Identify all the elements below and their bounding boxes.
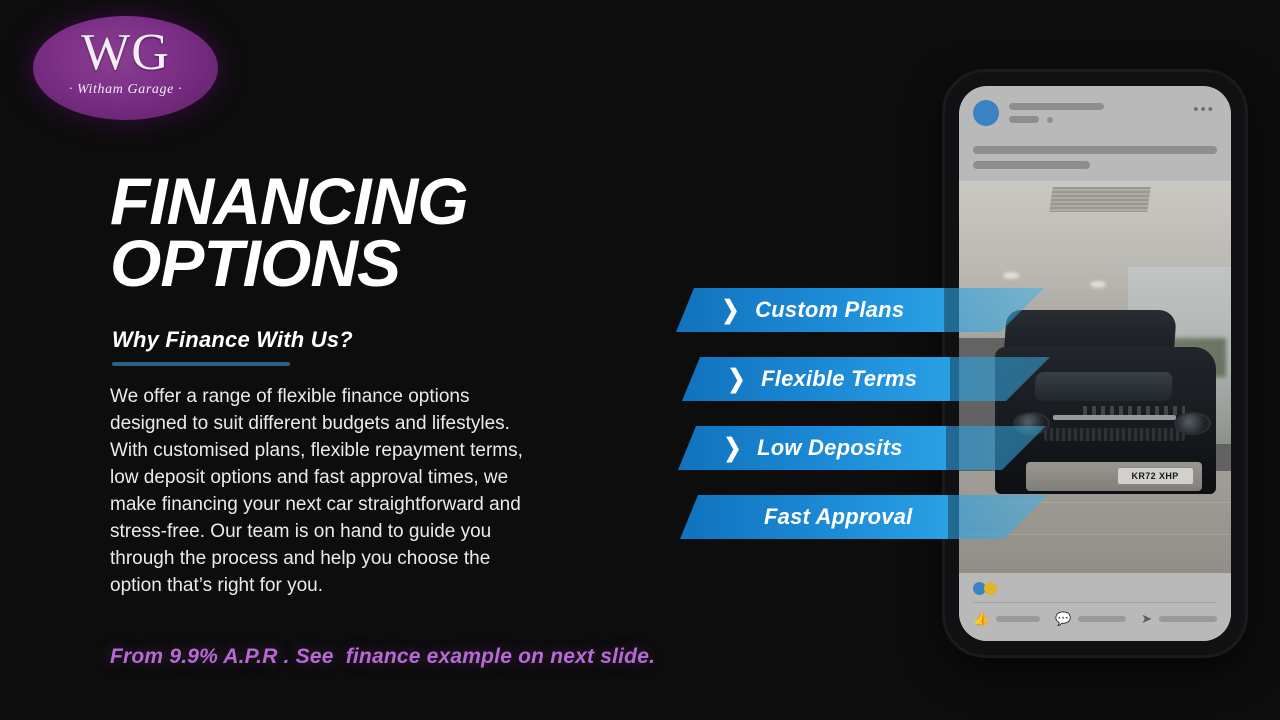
volume-up-button[interactable] <box>942 182 945 216</box>
phone-mockup: ••• <box>945 72 1245 655</box>
share-action[interactable]: ➤ <box>1141 612 1217 625</box>
share-label-placeholder <box>1159 616 1217 622</box>
page-title: FINANCING OPTIONS <box>110 170 630 294</box>
banner-label: Custom Plans <box>755 297 904 323</box>
chevron-right-icon: ❯ <box>724 437 742 459</box>
like-action[interactable]: 👍 <box>973 612 1040 625</box>
comment-label-placeholder <box>1078 616 1126 622</box>
phone-screen: ••• <box>959 86 1231 641</box>
chevron-right-icon: ❯ <box>728 368 746 390</box>
post-footer: 👍 💬 ➤ <box>959 573 1231 641</box>
comment-action[interactable]: 💬 <box>1055 612 1126 625</box>
post-author-placeholder <box>1009 103 1104 110</box>
post-text-line <box>973 146 1217 154</box>
care-reaction-icon <box>984 582 997 595</box>
post-text-line <box>973 161 1090 169</box>
banner-solid-shape <box>676 288 944 332</box>
slide-canvas: WG · Witham Garage · FINANCING OPTIONS W… <box>0 0 1280 720</box>
like-label-placeholder <box>996 616 1040 622</box>
apr-footnote: From 9.9% A.P.R . See finance example on… <box>110 645 655 669</box>
thumbs-up-icon: 👍 <box>973 612 989 625</box>
avatar <box>973 100 999 126</box>
banner-solid-shape <box>680 495 948 539</box>
post-privacy-icon <box>1047 117 1053 123</box>
post-text-placeholder <box>959 146 1231 169</box>
post-header: ••• <box>959 86 1231 136</box>
footer-divider <box>973 602 1217 603</box>
reaction-icons <box>973 582 1217 595</box>
post-time-placeholder <box>1009 116 1039 123</box>
banner-solid-shape <box>678 426 946 470</box>
post-actions: 👍 💬 ➤ <box>973 612 1217 625</box>
brand-logo: WG · Witham Garage · <box>33 16 218 120</box>
banner-solid-shape <box>682 357 950 401</box>
banner-label: Low Deposits <box>757 435 902 461</box>
volume-down-button[interactable] <box>942 224 945 258</box>
chevron-right-icon: ❯ <box>722 299 740 321</box>
page-title-line-1: FINANCING <box>110 170 630 232</box>
power-button[interactable] <box>1245 190 1248 242</box>
post-menu-icon[interactable]: ••• <box>1193 106 1215 114</box>
subheading-underline <box>112 362 290 366</box>
section-subheading: Why Finance With Us? <box>112 327 353 353</box>
banner-label: Fast Approval <box>764 504 912 530</box>
logo-initials: WG <box>33 24 218 82</box>
post-photo[interactable]: KR72 XHP <box>959 181 1231 573</box>
banner-label: Flexible Terms <box>761 366 917 392</box>
share-icon: ➤ <box>1141 612 1152 625</box>
body-paragraph: We offer a range of flexible finance opt… <box>110 383 530 599</box>
logo-wordmark: · Witham Garage · <box>33 82 218 98</box>
page-title-line-2: OPTIONS <box>110 232 630 294</box>
photo-tint-overlay <box>959 181 1231 573</box>
comment-icon: 💬 <box>1055 612 1071 625</box>
